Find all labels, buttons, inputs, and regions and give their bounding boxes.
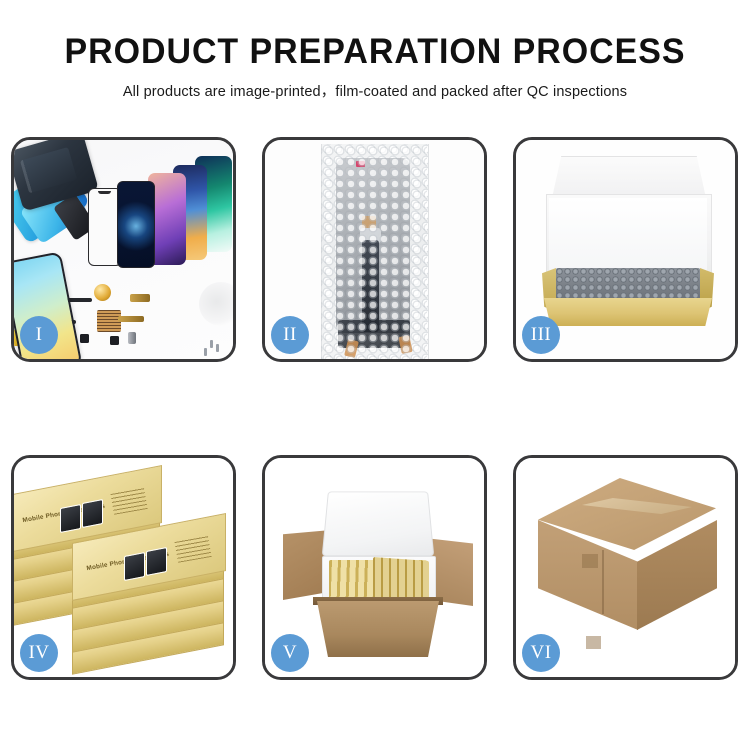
step-badge-4: IV — [20, 634, 58, 672]
step-badge-2: II — [271, 316, 309, 354]
process-step-grid: I II — [11, 137, 739, 680]
box-label-screen-image-right-1 — [124, 552, 145, 581]
step-panel-4: Mobile Phone Spare Parts Mobile Phone Sp… — [11, 455, 236, 680]
lcd-flex-cable — [362, 240, 379, 332]
step-badge-6: VI — [522, 634, 560, 672]
vibration-motor-part — [94, 284, 111, 301]
product-preparation-process-page: PRODUCT PREPARATION PROCESS All products… — [0, 0, 750, 750]
header: PRODUCT PREPARATION PROCESS All products… — [0, 0, 750, 101]
screw-part — [210, 340, 213, 348]
step-panel-6: VI — [513, 455, 738, 680]
step-badge-5: V — [271, 634, 309, 672]
packed-gold-boxes-secondary — [373, 557, 429, 602]
lcd-tan-connector — [362, 216, 376, 228]
step-panel-1: I — [11, 137, 236, 362]
flex-cable-part-2 — [118, 316, 144, 322]
step-panel-2: II — [262, 137, 487, 362]
screw-part-2 — [216, 344, 219, 352]
page-subtitle: All products are image-printed，film-coat… — [0, 71, 750, 101]
box-label-screen-image-left-1 — [60, 504, 81, 533]
step-badge-1: I — [20, 316, 58, 354]
screw-part-3 — [204, 348, 207, 356]
carton-tab-lower — [586, 636, 601, 649]
step-badge-3: III — [522, 316, 560, 354]
foam-box-lid — [322, 491, 435, 556]
camera-module-part — [128, 332, 136, 344]
step-panel-5: V — [262, 455, 487, 680]
carton-front-panel — [317, 601, 439, 657]
chip-part — [80, 334, 89, 343]
bubble-wrap-bag — [321, 144, 429, 359]
chip-part-2 — [110, 336, 119, 345]
pink-label-tab — [356, 161, 365, 167]
carton-tab-upper — [582, 554, 598, 568]
box-label-screen-image-right-2 — [146, 547, 167, 576]
carton-vertical-seam — [602, 550, 604, 614]
step-panel-3: III — [513, 137, 738, 362]
box-lid-open — [552, 156, 706, 198]
foam-liner — [549, 198, 707, 272]
phone-screen-blue-wallpaper — [117, 181, 155, 268]
lcd-tan-tab-right — [398, 335, 412, 354]
flex-cable-part — [130, 294, 150, 302]
hand-blur — [199, 282, 233, 326]
bubble-wrap-contents — [556, 268, 700, 301]
box-label-screen-image-left-2 — [82, 499, 103, 528]
lcd-tan-tab-left — [344, 339, 359, 358]
box-front-panel — [544, 298, 712, 326]
page-title: PRODUCT PREPARATION PROCESS — [11, 0, 739, 71]
